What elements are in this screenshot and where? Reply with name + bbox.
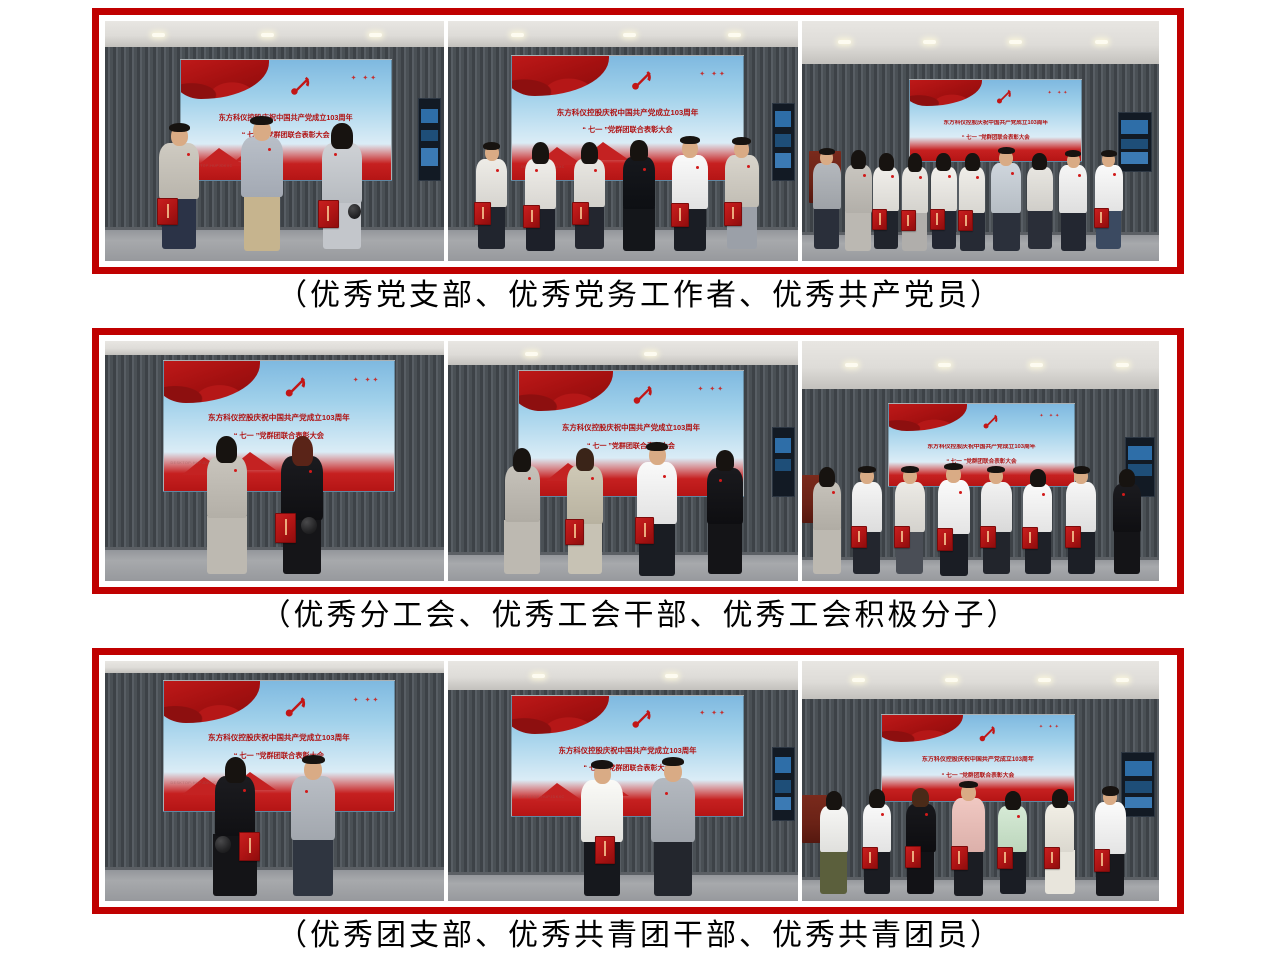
person	[1023, 471, 1052, 574]
award-certificate	[901, 210, 916, 231]
award-certificate	[980, 526, 996, 548]
photo-youth-right[interactable]: ✦ ✦✦ 东方科仪控股庆祝中国共产党成立103周年 “ 七一 ”党群团联合表彰大…	[802, 661, 1159, 901]
award-certificate	[997, 847, 1013, 869]
person	[637, 445, 677, 576]
people-group	[802, 341, 1159, 581]
conference-room-scene: ✦ ✦✦ 东方科仪控股庆祝中国共产党成立103周年 “ 七一 ”党群团联合表彰大…	[448, 21, 798, 261]
person	[1113, 471, 1141, 574]
award-certificate	[157, 198, 178, 225]
award-certificate	[572, 202, 589, 225]
person	[281, 439, 323, 574]
conference-room-scene: ✦ ✦✦ 东方科仪控股庆祝中国共产党成立103周年 “ 七一 ”党群团联合表彰大…	[105, 341, 444, 581]
person	[863, 791, 891, 894]
person	[574, 144, 605, 249]
people-group	[105, 341, 444, 581]
photo-collage-page: ✦ ✦✦ 东方科仪控股庆祝中国共产党成立103周年 “ 七一 ”党群团联合表彰大…	[0, 0, 1280, 960]
person	[991, 150, 1021, 252]
row-caption-youth: （优秀团支部、优秀共青团干部、优秀共青团员）	[0, 916, 1280, 956]
person	[476, 144, 507, 249]
person	[651, 761, 695, 896]
conference-room-scene: ✦ ✦✦ 东方科仪控股庆祝中国共产党成立103周年 “ 七一 ”党群团联合表彰大…	[802, 21, 1159, 261]
person	[623, 143, 655, 251]
person	[906, 790, 936, 894]
person	[291, 759, 335, 896]
photo-union-left[interactable]: ✦ ✦✦ 东方科仪控股庆祝中国共产党成立103周年 “ 七一 ”党群团联合表彰大…	[105, 341, 444, 581]
conference-room-scene: ✦ ✦✦ 东方科仪控股庆祝中国共产党成立103周年 “ 七一 ”党群团联合表彰大…	[448, 661, 798, 901]
people-group	[105, 21, 444, 261]
person	[813, 469, 841, 574]
person	[725, 140, 759, 249]
award-certificate	[905, 846, 921, 868]
person	[952, 784, 985, 896]
award-certificate	[275, 513, 296, 543]
photo-union-middle[interactable]: ✦ ✦✦ 东方科仪控股庆祝中国共产党成立103周年 “ 七一 ”党群团联合表彰大…	[448, 341, 798, 581]
photo-frame-union: ✦ ✦✦ 东方科仪控股庆祝中国共产党成立103周年 “ 七一 ”党群团联合表彰大…	[92, 328, 1184, 594]
people-group	[802, 21, 1159, 261]
person	[1045, 791, 1075, 894]
people-group	[105, 661, 444, 901]
award-certificate	[851, 526, 867, 548]
person	[1059, 153, 1087, 252]
person	[504, 451, 540, 574]
award-certificate	[474, 202, 491, 225]
person	[998, 793, 1027, 894]
award-certificate	[1044, 847, 1060, 869]
person	[981, 468, 1012, 574]
award-row-party: ✦ ✦✦ 东方科仪控股庆祝中国共产党成立103周年 “ 七一 ”党群团联合表彰大…	[0, 0, 1280, 320]
award-certificate	[1094, 849, 1110, 872]
conference-room-scene: ✦ ✦✦ 东方科仪控股庆祝中国共产党成立103周年 “ 七一 ”党群团联合表彰大…	[802, 661, 1159, 901]
person	[1066, 468, 1096, 574]
person	[852, 468, 882, 574]
award-certificate	[951, 846, 968, 870]
award-certificate	[958, 210, 973, 231]
photo-party-right[interactable]: ✦ ✦✦ 东方科仪控股庆祝中国共产党成立103周年 “ 七一 ”党群团联合表彰大…	[802, 21, 1159, 261]
person	[581, 764, 623, 897]
award-certificate	[724, 202, 742, 226]
person	[1095, 152, 1123, 249]
conference-room-scene: ✦ ✦✦ 东方科仪控股庆祝中国共产党成立103周年 “ 七一 ”党群团联合表彰大…	[802, 341, 1159, 581]
person	[1095, 789, 1126, 897]
person	[845, 153, 872, 252]
award-certificate	[937, 528, 953, 551]
conference-room-scene: ✦ ✦✦ 东方科仪控股庆祝中国共产党成立103周年 “ 七一 ”党群团联合表彰大…	[105, 21, 444, 261]
award-certificate	[894, 526, 910, 548]
person	[959, 155, 985, 251]
award-certificate	[523, 205, 540, 228]
person	[707, 453, 743, 574]
award-row-union: ✦ ✦✦ 东方科仪控股庆祝中国共产党成立103周年 “ 七一 ”党群团联合表彰大…	[0, 320, 1280, 640]
award-certificate	[1094, 208, 1109, 228]
row-caption-union: （优秀分工会、优秀工会干部、优秀工会积极分子）	[0, 596, 1280, 636]
photo-frame-party: ✦ ✦✦ 东方科仪控股庆祝中国共产党成立103周年 “ 七一 ”党群团联合表彰大…	[92, 8, 1184, 274]
award-certificate	[862, 847, 878, 869]
person	[159, 126, 199, 249]
award-row-youth: ✦ ✦✦ 东方科仪控股庆祝中国共产党成立103周年 “ 七一 ”党群团联合表彰大…	[0, 640, 1280, 960]
award-certificate	[239, 832, 260, 861]
person	[213, 760, 257, 896]
award-certificate	[565, 519, 584, 545]
award-certificate	[318, 200, 339, 228]
photo-party-middle[interactable]: ✦ ✦✦ 东方科仪控股庆祝中国共产党成立103周年 “ 七一 ”党群团联合表彰大…	[448, 21, 798, 261]
photo-party-left[interactable]: ✦ ✦✦ 东方科仪控股庆祝中国共产党成立103周年 “ 七一 ”党群团联合表彰大…	[105, 21, 444, 261]
people-group	[448, 661, 798, 901]
person	[895, 468, 925, 574]
award-certificate	[1065, 526, 1081, 548]
person	[813, 150, 841, 249]
person	[672, 139, 708, 251]
person	[525, 145, 556, 252]
photo-frame-youth: ✦ ✦✦ 东方科仪控股庆祝中国共产党成立103周年 “ 七一 ”党群团联合表彰大…	[92, 648, 1184, 914]
photo-youth-middle[interactable]: ✦ ✦✦ 东方科仪控股庆祝中国共产党成立103周年 “ 七一 ”党群团联合表彰大…	[448, 661, 798, 901]
people-group	[448, 21, 798, 261]
award-certificate	[595, 836, 615, 864]
conference-room-scene: ✦ ✦✦ 东方科仪控股庆祝中国共产党成立103周年 “ 七一 ”党群团联合表彰大…	[448, 341, 798, 581]
person	[207, 439, 247, 574]
people-group	[802, 661, 1159, 901]
person	[820, 793, 848, 894]
person	[902, 155, 928, 251]
person	[241, 120, 283, 252]
person	[567, 451, 603, 574]
person	[931, 155, 957, 249]
person	[322, 126, 362, 249]
award-certificate	[930, 209, 945, 230]
award-certificate	[671, 203, 689, 227]
person	[938, 466, 970, 576]
person	[1027, 155, 1053, 249]
people-group	[448, 341, 798, 581]
award-certificate	[872, 209, 887, 230]
photo-youth-left[interactable]: ✦ ✦✦ 东方科仪控股庆祝中国共产党成立103周年 “ 七一 ”党群团联合表彰大…	[105, 661, 444, 901]
award-certificate	[635, 517, 654, 544]
person	[873, 155, 899, 249]
conference-room-scene: ✦ ✦✦ 东方科仪控股庆祝中国共产党成立103周年 “ 七一 ”党群团联合表彰大…	[105, 661, 444, 901]
photo-union-right[interactable]: ✦ ✦✦ 东方科仪控股庆祝中国共产党成立103周年 “ 七一 ”党群团联合表彰大…	[802, 341, 1159, 581]
award-certificate	[1022, 527, 1038, 549]
row-caption-party: （优秀党支部、优秀党务工作者、优秀共产党员）	[0, 276, 1280, 316]
